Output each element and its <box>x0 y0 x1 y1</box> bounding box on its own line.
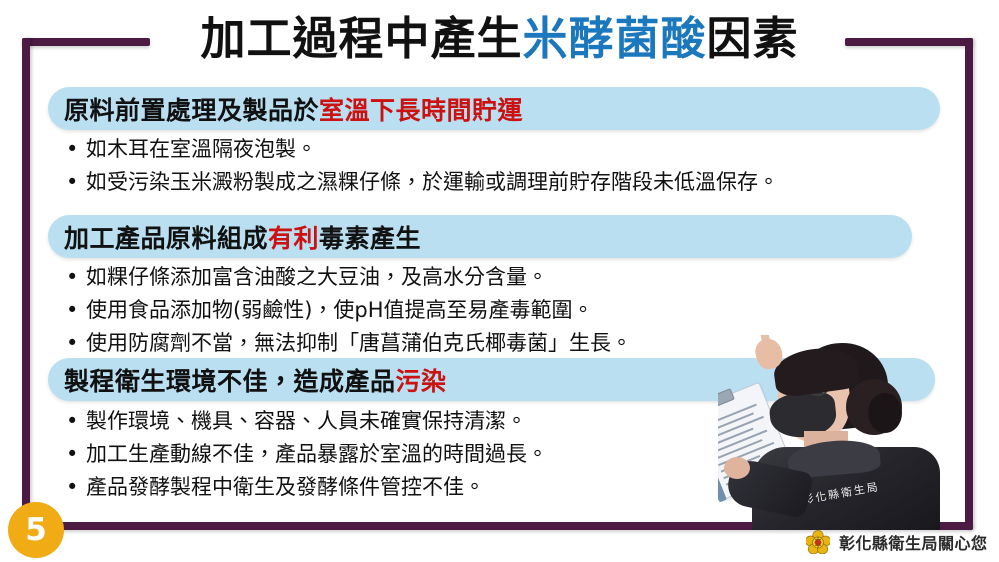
frame-left-segment <box>22 38 30 530</box>
bullet-marker-icon: • <box>66 134 86 165</box>
list-item: • 使用食品添加物(弱鹼性)，使pH值提高至易產毒範圍。 <box>66 295 632 326</box>
bullet-marker-icon: • <box>66 439 86 470</box>
section-2-bullet-list: • 如粿仔條添加富含油酸之大豆油，及高水分含量。 • 使用食品添加物(弱鹼性)，… <box>66 262 632 361</box>
list-item-text: 使用食品添加物(弱鹼性)，使pH值提高至易產毒範圍。 <box>86 295 594 326</box>
plum-blossom-emblem-icon <box>806 530 830 554</box>
bullet-marker-icon: • <box>66 262 86 293</box>
list-item-text: 產品發酵製程中衛生及發酵條件管控不佳。 <box>86 472 485 503</box>
list-item-text: 製作環境、機具、容器、人員未確實保持清潔。 <box>86 406 527 437</box>
section-2-header-prefix: 加工產品原料組成 <box>64 219 268 255</box>
section-3-header-prefix: 製程衛生環境不佳，造成產品 <box>64 362 396 398</box>
bullet-marker-icon: • <box>66 167 86 198</box>
slide-title-part2: 因素 <box>707 12 799 65</box>
section-1-header-prefix: 原料前置處理及製品於 <box>64 91 319 127</box>
footer-branding: 彰化縣衛生局關心您 <box>806 528 988 556</box>
section-3-header-highlight: 污染 <box>396 362 447 398</box>
hand-holding-clipboard <box>724 457 750 479</box>
hair-bun-shadow <box>868 393 902 433</box>
list-item-text: 加工生產動線不佳，產品暴露於室溫的時間過長。 <box>86 439 548 470</box>
slide-title-part1: 加工過程中產生 <box>200 12 522 65</box>
list-item-text: 如粿仔條添加富含油酸之大豆油，及高水分含量。 <box>86 262 548 293</box>
section-1-header-highlight: 室溫下長時間貯運 <box>319 91 523 127</box>
list-item: • 如受污染玉米澱粉製成之濕粿仔條，於運輸或調理前貯存階段未低溫保存。 <box>66 167 779 198</box>
list-item-text: 如受污染玉米澱粉製成之濕粿仔條，於運輸或調理前貯存階段未低溫保存。 <box>86 167 779 198</box>
section-1-header-label: 原料前置處理及製品於室溫下長時間貯運 <box>64 87 523 130</box>
bullet-marker-icon: • <box>66 328 86 359</box>
list-item: • 產品發酵製程中衛生及發酵條件管控不佳。 <box>66 472 548 503</box>
bullet-marker-icon: • <box>66 472 86 503</box>
slide-canvas: 加工過程中產生米酵菌酸因素 原料前置處理及製品於室溫下長時間貯運 • 如木耳在室… <box>0 0 999 562</box>
bullet-marker-icon: • <box>66 406 86 437</box>
slide-title-highlight: 米酵菌酸 <box>522 12 706 65</box>
list-item-text: 如木耳在室溫隔夜泡製。 <box>86 134 317 165</box>
health-inspector-photo: 彰化縣衛生局 <box>718 335 958 530</box>
list-item: • 使用防腐劑不當，無法抑制「唐菖蒲伯克氏椰毒菌」生長。 <box>66 328 632 359</box>
section-2-header-label: 加工產品原料組成有利毒素產生 <box>64 215 421 258</box>
list-item: • 如粿仔條添加富含油酸之大豆油，及高水分含量。 <box>66 262 632 293</box>
section-1-bullet-list: • 如木耳在室溫隔夜泡製。 • 如受污染玉米澱粉製成之濕粿仔條，於運輸或調理前貯… <box>66 134 779 200</box>
frame-right-segment <box>965 38 973 530</box>
section-2-header-suffix: 毒素產生 <box>319 219 421 255</box>
list-item: • 加工生產動線不佳，產品暴露於室溫的時間過長。 <box>66 439 548 470</box>
list-item-text: 使用防腐劑不當，無法抑制「唐菖蒲伯克氏椰毒菌」生長。 <box>86 328 632 359</box>
slide-title: 加工過程中產生米酵菌酸因素 <box>0 8 999 70</box>
section-2-header-highlight: 有利 <box>268 219 319 255</box>
list-item: • 製作環境、機具、容器、人員未確實保持清潔。 <box>66 406 548 437</box>
section-3-bullet-list: • 製作環境、機具、容器、人員未確實保持清潔。 • 加工生產動線不佳，產品暴露於… <box>66 406 548 505</box>
section-3-header-label: 製程衛生環境不佳，造成產品污染 <box>64 358 447 401</box>
list-item: • 如木耳在室溫隔夜泡製。 <box>66 134 779 165</box>
bullet-marker-icon: • <box>66 295 86 326</box>
page-number-badge: 5 <box>8 502 64 558</box>
footer-text: 彰化縣衛生局關心您 <box>839 530 988 554</box>
